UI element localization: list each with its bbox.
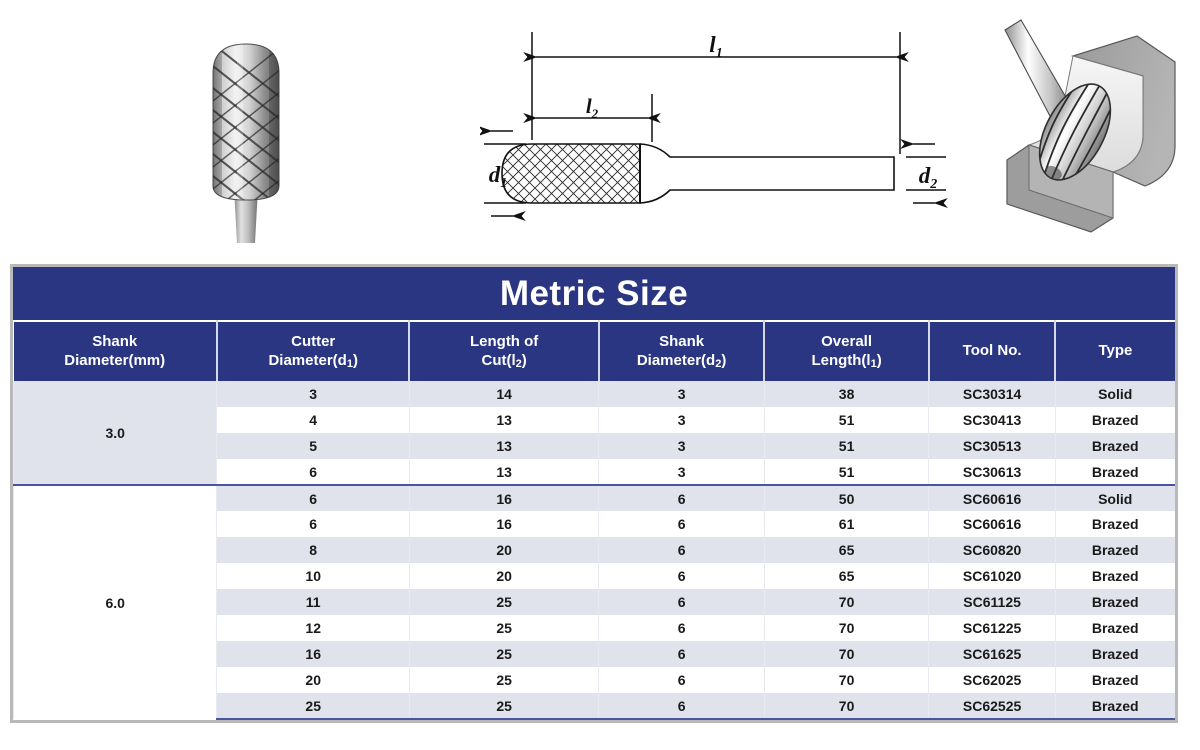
table-title-row: Metric Size <box>14 268 1175 322</box>
illustration-strip: l1 l2 d1 d2 <box>0 0 1200 258</box>
cell-length-of-cut: 13 <box>409 433 598 459</box>
cell-type: Brazed <box>1055 407 1174 433</box>
table-header-row: Shank Diameter(mm) Cutter Diameter(d1) L… <box>14 321 1175 381</box>
header-line1: Overall <box>821 333 872 350</box>
cell-type: Brazed <box>1055 433 1174 459</box>
table-title: Metric Size <box>14 268 1175 322</box>
header-line1: Shank <box>659 333 704 350</box>
table-row: 6.0616650SC60616Solid <box>14 485 1175 511</box>
cell-length-of-cut: 25 <box>409 615 598 641</box>
cell-cutter-diameter: 3 <box>217 381 410 407</box>
cell-length-of-cut: 13 <box>409 407 598 433</box>
header-line2: Diameter(d <box>268 352 346 369</box>
cell-overall-length: 50 <box>764 485 928 511</box>
cell-tool-no: SC61125 <box>929 589 1056 615</box>
cell-type: Brazed <box>1055 511 1174 537</box>
burr-application-illustration <box>985 14 1190 246</box>
header-line2: Diameter(d <box>637 352 715 369</box>
cell-shank-diameter: 3 <box>599 381 765 407</box>
cell-overall-length: 70 <box>764 667 928 693</box>
cell-tool-no: SC61020 <box>929 563 1056 589</box>
header-subscript: 2 <box>516 358 522 370</box>
cell-cutter-diameter: 6 <box>217 511 410 537</box>
cell-type: Brazed <box>1055 641 1174 667</box>
cell-shank-diameter: 6 <box>599 563 765 589</box>
header-line1: Cutter <box>291 333 335 350</box>
header-type: Type <box>1055 321 1174 381</box>
cell-cutter-diameter: 4 <box>217 407 410 433</box>
cell-length-of-cut: 25 <box>409 589 598 615</box>
cell-overall-length: 51 <box>764 433 928 459</box>
cell-type: Brazed <box>1055 693 1174 719</box>
cell-cutter-diameter: 6 <box>217 485 410 511</box>
label-overall-length: l1 <box>709 32 722 61</box>
cell-tool-no: SC30613 <box>929 459 1056 485</box>
cell-length-of-cut: 25 <box>409 693 598 719</box>
header-subscript: 2 <box>715 358 721 370</box>
cell-cutter-diameter: 12 <box>217 615 410 641</box>
cell-overall-length: 51 <box>764 407 928 433</box>
cell-shank-diameter: 3 <box>599 433 765 459</box>
cell-cutter-diameter: 8 <box>217 537 410 563</box>
cell-tool-no: SC60616 <box>929 511 1056 537</box>
cell-shank-diameter: 3 <box>599 407 765 433</box>
cell-cutter-diameter: 11 <box>217 589 410 615</box>
cell-cutter-diameter: 5 <box>217 433 410 459</box>
cell-length-of-cut: 16 <box>409 485 598 511</box>
cell-tool-no: SC60820 <box>929 537 1056 563</box>
cell-shank-diameter: 3 <box>599 459 765 485</box>
cell-type: Brazed <box>1055 667 1174 693</box>
cell-overall-length: 61 <box>764 511 928 537</box>
cell-overall-length: 38 <box>764 381 928 407</box>
cell-tool-no: SC30413 <box>929 407 1056 433</box>
header-tail: ) <box>353 352 358 369</box>
cell-shank-diameter: 6 <box>599 537 765 563</box>
cell-shank-diameter: 6 <box>599 615 765 641</box>
carbide-burr-photo <box>185 18 355 243</box>
cell-tool-no: SC61625 <box>929 641 1056 667</box>
header-line1: Type <box>1098 342 1132 359</box>
cell-overall-length: 65 <box>764 537 928 563</box>
header-subscript: 1 <box>871 358 877 370</box>
cell-tool-no: SC61225 <box>929 615 1056 641</box>
cell-shank-diameter: 6 <box>599 693 765 719</box>
label-length-of-cut: l2 <box>586 94 599 121</box>
header-line2: Cut(l <box>482 352 516 369</box>
cell-cutter-diameter: 6 <box>217 459 410 485</box>
cell-shank-diameter-group: 6.0 <box>14 485 217 719</box>
cell-tool-no: SC62025 <box>929 667 1056 693</box>
header-tail: ) <box>522 352 527 369</box>
header-overall-length: Overall Length(l1) <box>764 321 928 381</box>
cell-length-of-cut: 13 <box>409 459 598 485</box>
cell-shank-diameter: 6 <box>599 485 765 511</box>
cell-cutter-diameter: 10 <box>217 563 410 589</box>
cell-length-of-cut: 25 <box>409 667 598 693</box>
cell-tool-no: SC30513 <box>929 433 1056 459</box>
cell-cutter-diameter: 20 <box>217 667 410 693</box>
cell-type: Solid <box>1055 381 1174 407</box>
cell-overall-length: 70 <box>764 615 928 641</box>
header-shank-diameter-d2: Shank Diameter(d2) <box>599 321 765 381</box>
header-tool-no: Tool No. <box>929 321 1056 381</box>
header-tail: ) <box>877 352 882 369</box>
cell-length-of-cut: 20 <box>409 537 598 563</box>
burr-dimension-drawing: l1 l2 d1 d2 <box>480 12 950 242</box>
header-tail: ) <box>721 352 726 369</box>
cell-shank-diameter: 6 <box>599 641 765 667</box>
cell-length-of-cut: 20 <box>409 563 598 589</box>
header-line1: Shank <box>92 333 137 350</box>
cell-type: Brazed <box>1055 537 1174 563</box>
cell-type: Brazed <box>1055 459 1174 485</box>
cell-cutter-diameter: 16 <box>217 641 410 667</box>
cell-length-of-cut: 14 <box>409 381 598 407</box>
cell-type: Brazed <box>1055 589 1174 615</box>
label-shank-diameter: d2 <box>919 163 938 192</box>
cell-shank-diameter: 6 <box>599 667 765 693</box>
cell-shank-diameter-group: 3.0 <box>14 381 217 485</box>
cell-type: Brazed <box>1055 563 1174 589</box>
header-shank-diameter-mm: Shank Diameter(mm) <box>14 321 217 381</box>
cell-length-of-cut: 16 <box>409 511 598 537</box>
cell-shank-diameter: 6 <box>599 511 765 537</box>
cell-overall-length: 70 <box>764 641 928 667</box>
header-length-of-cut: Length of Cut(l2) <box>409 321 598 381</box>
cell-cutter-diameter: 25 <box>217 693 410 719</box>
table-row: 3.0314338SC30314Solid <box>14 381 1175 407</box>
cell-tool-no: SC30314 <box>929 381 1056 407</box>
cell-overall-length: 70 <box>764 693 928 719</box>
cell-shank-diameter: 6 <box>599 589 765 615</box>
header-line2: Length(l <box>811 352 870 369</box>
cell-overall-length: 65 <box>764 563 928 589</box>
cell-overall-length: 70 <box>764 589 928 615</box>
cell-overall-length: 51 <box>764 459 928 485</box>
cell-tool-no: SC60616 <box>929 485 1056 511</box>
cell-type: Brazed <box>1055 615 1174 641</box>
header-line2: Diameter(mm) <box>64 352 165 369</box>
cell-type: Solid <box>1055 485 1174 511</box>
header-line1: Length of <box>470 333 538 350</box>
metric-size-table: Metric Size Shank Diameter(mm) Cutter Di… <box>10 264 1178 723</box>
cell-tool-no: SC62525 <box>929 693 1056 719</box>
header-line1: Tool No. <box>963 342 1022 359</box>
header-subscript: 1 <box>347 358 353 370</box>
cell-length-of-cut: 25 <box>409 641 598 667</box>
header-cutter-diameter: Cutter Diameter(d1) <box>217 321 410 381</box>
